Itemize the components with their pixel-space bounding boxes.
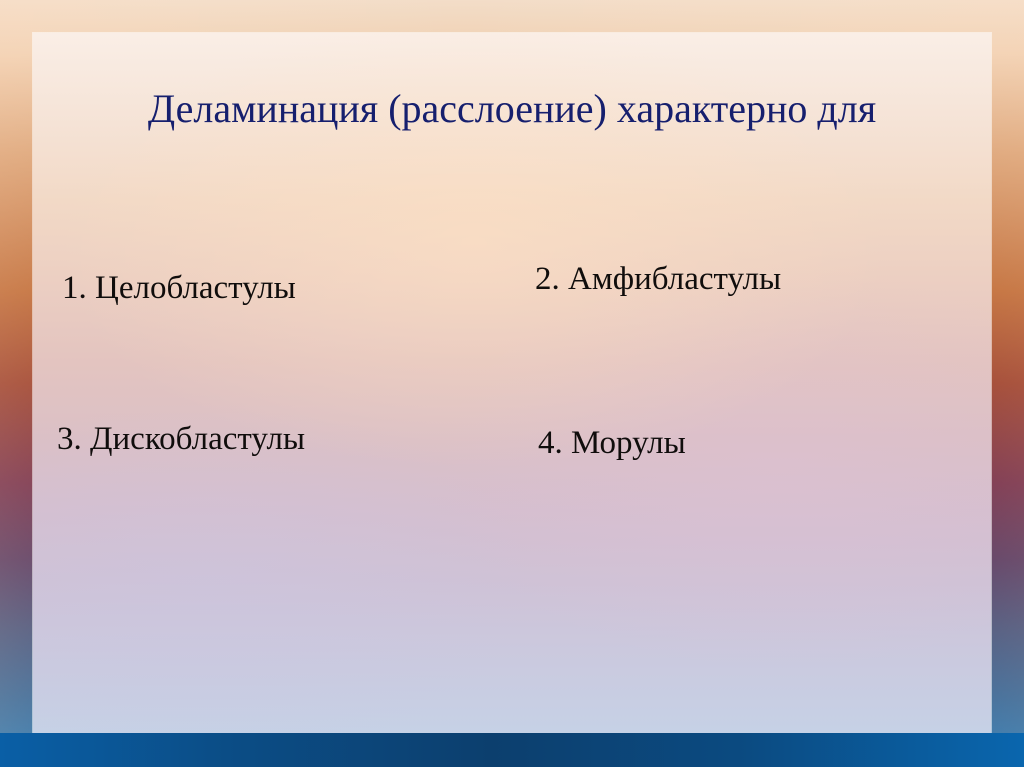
answer-option-4[interactable]: 4. Морулы (538, 425, 686, 463)
presentation-slide: Деламинация (расслоение) характерно для … (0, 0, 1024, 767)
answer-options-list: 1. Целобластулы 2. Амфибластулы 3. Диско… (33, 33, 991, 735)
answer-option-2[interactable]: 2. Амфибластулы (535, 261, 781, 299)
answer-option-1[interactable]: 1. Целобластулы (62, 270, 296, 308)
slide-content-panel: Деламинация (расслоение) характерно для … (33, 33, 991, 735)
answer-option-3[interactable]: 3. Дискобластулы (57, 421, 305, 459)
